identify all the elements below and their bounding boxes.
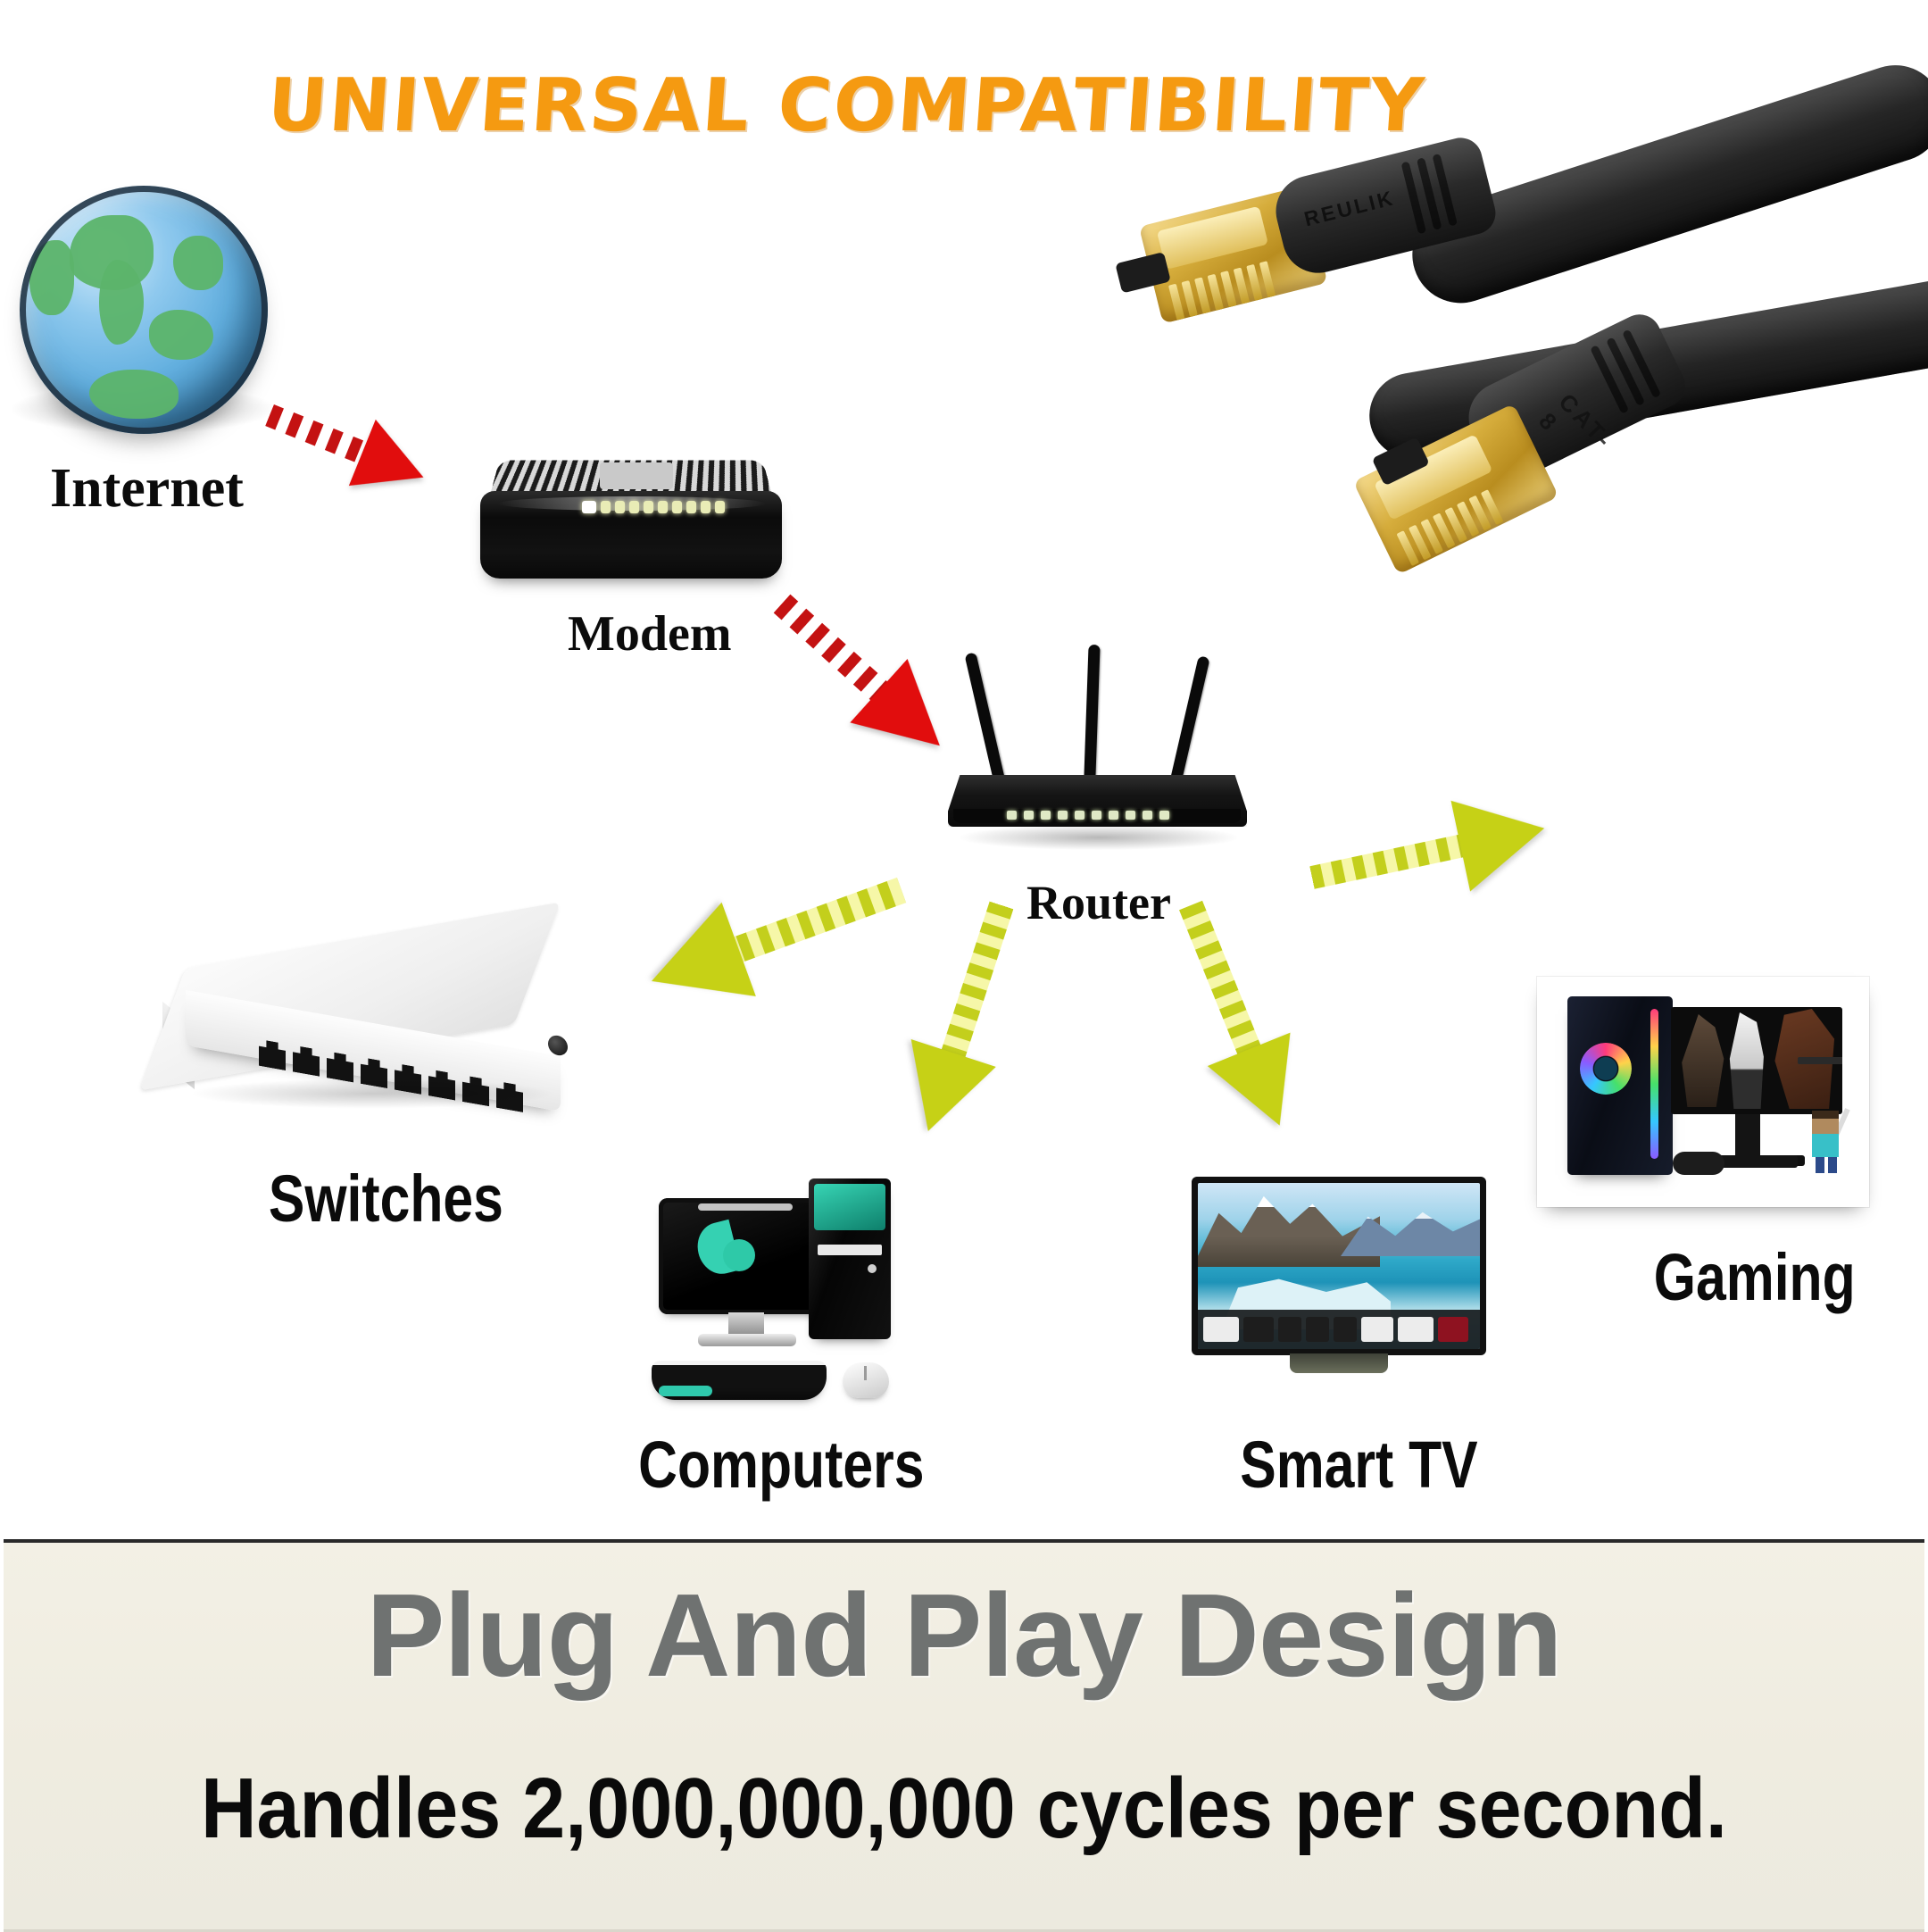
router-shadow	[960, 825, 1237, 850]
router-antenna	[1084, 645, 1101, 787]
gaming-tower	[1567, 996, 1673, 1175]
cat8-ethernet-cable-photo: REULIK CAT-8	[1147, 170, 1928, 741]
footer-headline: Plug And Play Design	[4, 1577, 1924, 1695]
globe-icon	[20, 186, 268, 434]
tv-screen-mountains	[1341, 1203, 1480, 1256]
arrow-router-to-computers	[912, 902, 1013, 1147]
arrow-router-to-gaming	[1309, 814, 1558, 889]
router-led-row	[1007, 811, 1169, 820]
tv-screen	[1198, 1183, 1480, 1349]
television-icon	[1192, 1177, 1486, 1382]
footer-subline: Handles 2,000,000,000 cycles per second.	[100, 1766, 1829, 1852]
arrow-tail	[1179, 901, 1262, 1059]
globe-landmass	[149, 310, 213, 360]
arrow-router-to-switches	[628, 878, 906, 1001]
arrow-tail	[774, 595, 892, 704]
keyboard	[652, 1361, 827, 1400]
rgb-light-strip	[1650, 1009, 1658, 1159]
game-character	[1676, 1014, 1732, 1107]
modem-top-plate	[600, 462, 673, 489]
modem-icon	[475, 457, 787, 587]
blocky-game-character	[1805, 1111, 1855, 1173]
page-title: Universal Compatibility	[265, 70, 1127, 143]
arrow-tail	[940, 902, 1013, 1062]
arrow-head	[1450, 783, 1554, 892]
arrow-tail	[265, 404, 371, 465]
globe-landmass	[173, 236, 223, 290]
gaming-monitor	[1671, 1007, 1842, 1114]
switch-power-jack	[548, 1034, 568, 1057]
arrow-modem-to-router	[774, 595, 950, 756]
tv-stand	[1290, 1353, 1388, 1373]
arrow-tail	[1309, 834, 1468, 889]
footer-panel: Plug And Play Design Handles 2,000,000,0…	[4, 1539, 1924, 1932]
globe-landmass	[29, 240, 74, 314]
gaming-pc-icon	[1537, 977, 1869, 1207]
arrow-head	[349, 420, 437, 511]
globe-landmass	[99, 260, 144, 345]
monitor	[659, 1198, 834, 1314]
soundbar	[1712, 1155, 1798, 1168]
game-weapon	[1798, 1057, 1842, 1064]
node-label-switches: Switches	[269, 1161, 503, 1237]
monitor-logo	[698, 1223, 757, 1282]
network-switch-icon	[162, 939, 582, 1136]
arrow-head	[1208, 1033, 1321, 1143]
game-character	[1723, 1012, 1773, 1109]
headset-icon	[1673, 1152, 1724, 1175]
tv-ui-app-bar	[1198, 1310, 1480, 1349]
node-label-router: Router	[1026, 875, 1171, 930]
router-antenna	[964, 652, 1005, 785]
node-label-gaming: Gaming	[1654, 1239, 1856, 1315]
arrow-head	[885, 1039, 996, 1145]
monitor-base	[698, 1334, 796, 1346]
monitor-stand	[728, 1312, 764, 1336]
arrow-head	[635, 903, 756, 1028]
desktop-computer-icon	[643, 1171, 946, 1430]
poster-canvas: Universal Compatibility Internet Modem	[0, 0, 1928, 1928]
node-label-computers: Computers	[638, 1427, 924, 1503]
node-label-internet: Internet	[50, 457, 244, 520]
gaming-monitor-stand	[1735, 1114, 1760, 1159]
switch-shadow	[189, 1078, 555, 1109]
pc-tower	[809, 1178, 891, 1339]
arrow-router-to-smarttv	[1179, 901, 1300, 1150]
modem-led-row	[582, 500, 741, 514]
node-label-modem: Modem	[568, 605, 732, 662]
arrow-internet-to-modem	[265, 404, 414, 483]
globe-landmass	[70, 215, 154, 289]
mouse	[843, 1362, 889, 1398]
arrow-tail	[729, 878, 906, 964]
globe-landmass	[89, 370, 179, 420]
node-label-smarttv: Smart TV	[1240, 1427, 1477, 1503]
